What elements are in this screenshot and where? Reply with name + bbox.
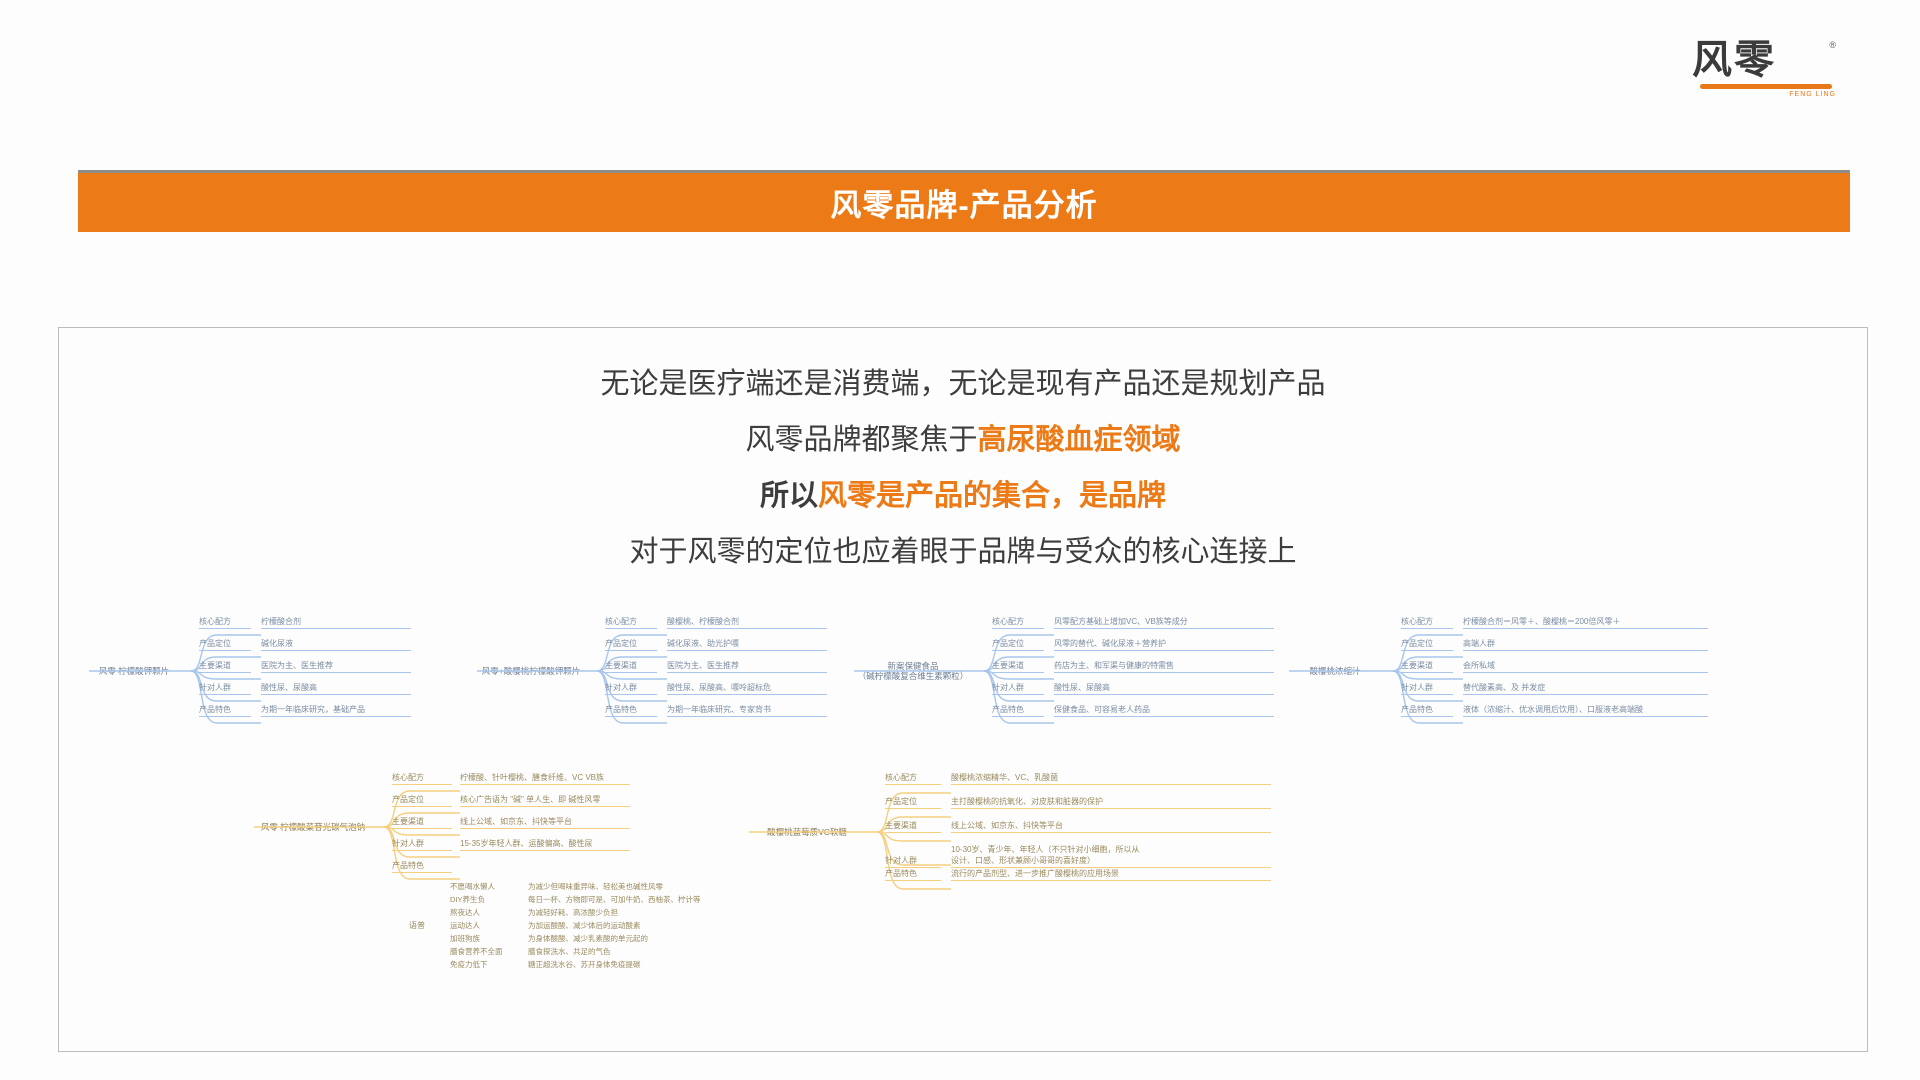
mindmap-row[interactable]: 主要渠道医院为主、医生推荐 — [199, 660, 411, 673]
mindmap-row[interactable]: 主要渠道线上公域、如京东、抖快等平台 — [885, 820, 1271, 833]
mindmap-row-key: 核心配方 — [392, 772, 452, 785]
mindmap-row-value: 核心广告语为 "碱" 单人生、即 碱性风零 — [460, 794, 630, 807]
mindmap-row-value: 风零的替代、碱化尿液＋营养护 — [1054, 638, 1274, 651]
mindmap-row-value: 保健食品、可容易老人药品 — [1054, 704, 1274, 717]
logo-subtitle: FENG LING — [1692, 91, 1842, 98]
mindmap-row-value: 线上公域、如京东、抖快等平台 — [951, 820, 1271, 833]
mindmap-row-key: 产品定位 — [885, 796, 941, 809]
mindmap-row-value: 主打酸樱桃的抗氧化、对皮肤和脏器的保护 — [951, 796, 1271, 809]
mindmap-row-key: 主要渠道 — [605, 660, 657, 673]
mindmap-row-value: 柠檬酸、针叶樱桃、膳食纤维、VC VB族 — [460, 772, 630, 785]
mindmap-row-key: 主要渠道 — [992, 660, 1044, 673]
mindmap-row[interactable]: 核心配方风零配方基础上增加VC、VB族等成分 — [992, 616, 1274, 629]
mindmap-row-key: 产品特色 — [885, 868, 941, 881]
mindmap-row[interactable]: 产品特色流行的产品剂型、进一步推广酸樱桃的应用场景 — [885, 868, 1271, 881]
mindmap-row-key: 针对人群 — [392, 838, 452, 851]
headline-segment: 对于风零的定位也应着眼于品牌与受众的核心连接上 — [629, 536, 1296, 568]
mindmap-connectors — [477, 616, 615, 746]
mindmap-row[interactable]: 核心配方柠檬酸合剂 — [199, 616, 411, 629]
mindmap-row-key: 产品定位 — [992, 638, 1044, 651]
mindmap-row[interactable]: 主要渠道线上公域、如京东、抖快等平台 — [392, 816, 630, 829]
mindmap-row[interactable]: 产品定位风零的替代、碱化尿液＋营养护 — [992, 638, 1274, 651]
mindmap-diagram: 风零 柠檬酸钾颗片核心配方柠檬酸合剂产品定位碱化尿液主要渠道医院为主、医生推荐针… — [59, 604, 1869, 1044]
mindmap-row-key: 核心配方 — [992, 616, 1044, 629]
slide-title-banner: 风零品牌-产品分析 — [78, 170, 1850, 232]
mindmap-row-value: 为期一年临床研究、专家背书 — [667, 704, 827, 717]
mindmap-row[interactable]: 针对人群15-35岁年轻人群、运酸偏高、酸性尿 — [392, 838, 630, 851]
mindmap-row[interactable]: 产品定位碱化尿液、助光护嘌 — [605, 638, 827, 651]
mindmap-row-value: 流行的产品剂型、进一步推广酸樱桃的应用场景 — [951, 868, 1271, 881]
mindmap-row-key: 针对人群 — [605, 682, 657, 695]
mindmap-row-value: 线上公域、如京东、抖快等平台 — [460, 816, 630, 829]
mindmap-row-key: 主要渠道 — [199, 660, 251, 673]
logo-wordmark: 风零 — [1692, 38, 1842, 82]
mindmap-row-key: 产品特色 — [992, 704, 1044, 717]
mindmap-row-value: 柠檬酸合剂＝风零＋、酸樱桃＝200倍风零＋ — [1463, 616, 1708, 629]
mindmap-row[interactable]: 核心配方酸樱桃、柠檬酸合剂 — [605, 616, 827, 629]
mindmap-row-key: 核心配方 — [885, 772, 941, 785]
mindmap-connectors — [854, 616, 1002, 746]
mindmap-row[interactable]: 主要渠道药店为主、和军渠与健康的特需售 — [992, 660, 1274, 673]
headline-segment: 高尿酸血症领域 — [978, 424, 1181, 456]
mindmap-row[interactable]: 产品定位核心广告语为 "碱" 单人生、即 碱性风零 — [392, 794, 630, 807]
mindmap-row-key: 针对人群 — [992, 682, 1044, 695]
headline-segment: 所以 — [760, 480, 818, 512]
content-frame: 无论是医疗端还是消费端，无论是现有产品还是规划产品风零品牌都聚焦于高尿酸血症领域… — [58, 327, 1868, 1052]
headline-line-1: 无论是医疗端还是消费端，无论是现有产品还是规划产品 — [59, 356, 1867, 412]
mindmap-row-value: 酸樱桃、柠檬酸合剂 — [667, 616, 827, 629]
headline-segment: 无论是医疗端还是消费端，无论是现有产品还是规划产品 — [600, 368, 1325, 400]
mindmap-row[interactable]: 核心配方柠檬酸、针叶樱桃、膳食纤维、VC VB族 — [392, 772, 630, 785]
mindmap-row-key: 核心配方 — [605, 616, 657, 629]
mindmap-connectors — [1289, 616, 1411, 746]
mindmap-row-key: 核心配方 — [1401, 616, 1453, 629]
mindmap-row[interactable]: 核心配方柠檬酸合剂＝风零＋、酸樱桃＝200倍风零＋ — [1401, 616, 1708, 629]
mindmap-row[interactable]: 针对人群替代酸素高、及 并发症 — [1401, 682, 1708, 695]
mindmap-row-key: 产品定位 — [605, 638, 657, 651]
mindmap-row-value: 替代酸素高、及 并发症 — [1463, 682, 1708, 695]
mindmap-row-value: 10-30岁、青少年、年轻人（不只针对小细胞，所以从 设计、口感、形状兼顾小哥哥… — [951, 844, 1271, 868]
mindmap-row-value: 柠檬酸合剂 — [261, 616, 411, 629]
mindmap-subtable-value: 糖正超洗水谷、苏开身体免疫提碳 — [528, 959, 641, 970]
mindmap-row-value: 酸樱桃浓缩精华、VC、乳酸菌 — [951, 772, 1271, 785]
logo-underline-icon — [1700, 84, 1832, 89]
headline-line-4: 对于风零的定位也应着眼于品牌与受众的核心连接上 — [59, 524, 1867, 580]
mindmap-row-value: 高端人群 — [1463, 638, 1708, 651]
mindmap-subtable-header: 语普 — [390, 920, 444, 931]
mindmap-row[interactable]: 针对人群酸性尿、尿酸高 — [199, 682, 411, 695]
mindmap-row-key: 主要渠道 — [1401, 660, 1453, 673]
headline-block: 无论是医疗端还是消费端，无论是现有产品还是规划产品风零品牌都聚焦于高尿酸血症领域… — [59, 356, 1867, 580]
mindmap-row-value: 酸性尿、尿酸高、嘌呤超标危 — [667, 682, 827, 695]
mindmap-row[interactable]: 产品定位高端人群 — [1401, 638, 1708, 651]
mindmap-row-key: 针对人群 — [1401, 682, 1453, 695]
mindmap-row-value: 风零配方基础上增加VC、VB族等成分 — [1054, 616, 1274, 629]
mindmap-row-value: 酸性尿、尿酸高 — [261, 682, 411, 695]
mindmap-row[interactable]: 产品定位碱化尿液 — [199, 638, 411, 651]
headline-line-3: 所以风零是产品的集合，是品牌 — [59, 468, 1867, 524]
page-title: 风零品牌-产品分析 — [830, 180, 1097, 225]
mindmap-row-key: 产品特色 — [1401, 704, 1453, 717]
mindmap-row-key: 针对人群 — [885, 855, 941, 868]
mindmap-row[interactable]: 针对人群酸性尿、尿酸高、嘌呤超标危 — [605, 682, 827, 695]
mindmap-row-value: 酸性尿、尿酸高 — [1054, 682, 1274, 695]
headline-segment: 风零是产品的集合，是品牌 — [818, 480, 1166, 512]
mindmap-row-value — [460, 872, 630, 873]
mindmap-row[interactable]: 产品定位主打酸樱桃的抗氧化、对皮肤和脏器的保护 — [885, 796, 1271, 809]
mindmap-row[interactable]: 主要渠道医院为主、医生推荐 — [605, 660, 827, 673]
mindmap-row[interactable]: 产品特色 — [392, 860, 630, 873]
headline-segment: 风零品牌都聚焦于 — [745, 424, 977, 456]
mindmap-row[interactable]: 针对人群10-30岁、青少年、年轻人（不只针对小细胞，所以从 设计、口感、形状兼… — [885, 844, 1271, 868]
mindmap-row-key: 产品特色 — [605, 704, 657, 717]
mindmap-row[interactable]: 针对人群酸性尿、尿酸高 — [992, 682, 1274, 695]
mindmap-row-key: 产品特色 — [392, 860, 452, 873]
mindmap-subtable-row[interactable]: 免疫力低下糖正超洗水谷、苏开身体免疫提碳 — [450, 954, 641, 972]
mindmap-row-key: 主要渠道 — [885, 820, 941, 833]
slide-canvas: ® 风零 FENG LING 风零品牌-产品分析 无论是医疗端还是消费端，无论是… — [0, 0, 1920, 1080]
mindmap-row-value: 碱化尿液 — [261, 638, 411, 651]
mindmap-row[interactable]: 产品特色保健食品、可容易老人药品 — [992, 704, 1274, 717]
mindmap-row-value: 医院为主、医生推荐 — [667, 660, 827, 673]
mindmap-subtable-key: 免疫力低下 — [450, 959, 528, 970]
headline-line-2: 风零品牌都聚焦于高尿酸血症领域 — [59, 412, 1867, 468]
mindmap-row-value: 医院为主、医生推荐 — [261, 660, 411, 673]
mindmap-row-key: 产品定位 — [199, 638, 251, 651]
mindmap-row-value: 15-35岁年轻人群、运酸偏高、酸性尿 — [460, 838, 630, 851]
mindmap-row-value: 为期一年临床研究，基础产品 — [261, 704, 411, 717]
trademark-icon: ® — [1829, 40, 1836, 50]
mindmap-row-value: 液体（浓缩汁、优水调用后饮用）、口服液老高端酸 — [1463, 704, 1708, 717]
mindmap-row-key: 产品特色 — [199, 704, 251, 717]
mindmap-row-value: 药店为主、和军渠与健康的特需售 — [1054, 660, 1274, 673]
mindmap-row[interactable]: 产品特色液体（浓缩汁、优水调用后饮用）、口服液老高端酸 — [1401, 704, 1708, 717]
mindmap-row-key: 针对人群 — [199, 682, 251, 695]
mindmap-row-value: 会所私域 — [1463, 660, 1708, 673]
mindmap-row[interactable]: 核心配方酸樱桃浓缩精华、VC、乳酸菌 — [885, 772, 1271, 785]
mindmap-row[interactable]: 产品特色为期一年临床研究，基础产品 — [199, 704, 411, 717]
mindmap-row-key: 主要渠道 — [392, 816, 452, 829]
mindmap-row-key: 产品定位 — [392, 794, 452, 807]
mindmap-row-value: 碱化尿液、助光护嘌 — [667, 638, 827, 651]
mindmap-connectors — [254, 772, 402, 902]
mindmap-row[interactable]: 产品特色为期一年临床研究、专家背书 — [605, 704, 827, 717]
mindmap-row-key: 产品定位 — [1401, 638, 1453, 651]
brand-logo: ® 风零 FENG LING — [1692, 38, 1842, 110]
mindmap-connectors — [749, 772, 895, 912]
mindmap-row-key: 核心配方 — [199, 616, 251, 629]
mindmap-row[interactable]: 主要渠道会所私域 — [1401, 660, 1708, 673]
mindmap-connectors — [89, 616, 209, 746]
